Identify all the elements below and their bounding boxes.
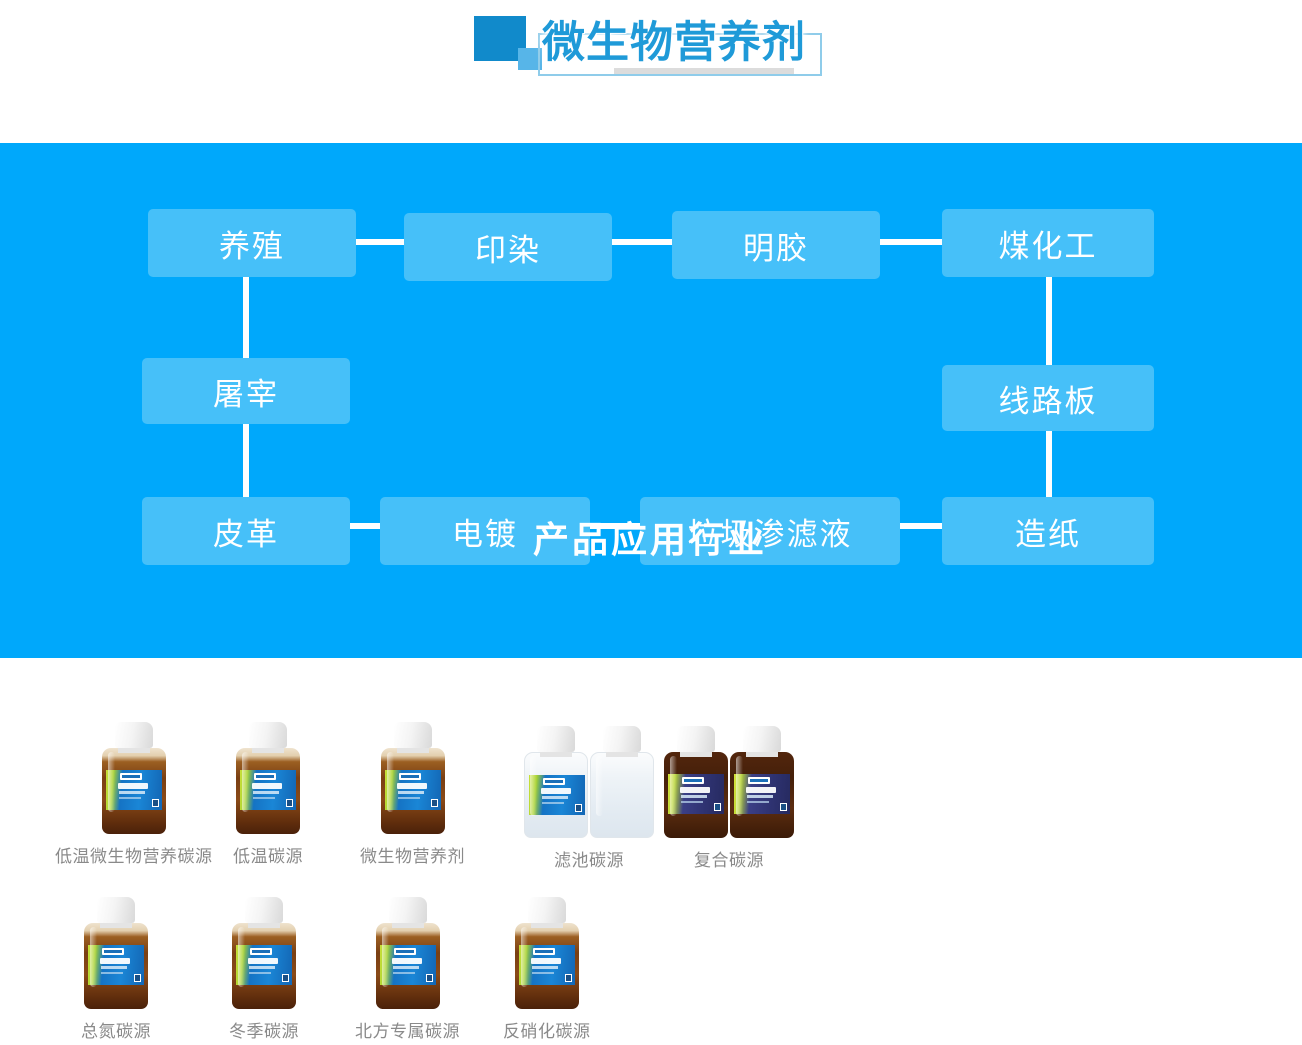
bottle-cap-icon [677, 726, 715, 752]
industry-node-label: 屠宰 [213, 369, 279, 414]
product-image [229, 893, 299, 1009]
product-item[interactable]: 复合碳源 [664, 722, 794, 871]
product-bottle [376, 897, 440, 1009]
diagram-connector [356, 239, 404, 245]
bottle-highlight [596, 756, 603, 816]
product-bottle [102, 722, 166, 834]
bottle-highlight [108, 752, 115, 812]
product-gallery: 低温微生物营养碳源低温碳源微生物营养剂滤池碳源复合碳源总氮碳源冬季碳源北方专属碳… [0, 658, 1302, 1045]
bottle-label-main [397, 783, 427, 789]
bottle-label-fine [542, 802, 564, 804]
bottle-label-fine [393, 972, 415, 974]
industry-node[interactable]: 皮革 [142, 497, 350, 565]
diagram-connector [612, 239, 672, 245]
bottle-label-brand [533, 948, 555, 955]
bottle-label-badge [286, 799, 293, 807]
bottle-label-main [531, 958, 561, 964]
bottle-label-fine [249, 972, 271, 974]
bottle-label-badge [565, 974, 572, 982]
product-bottle [730, 726, 794, 838]
industry-node-label: 养殖 [219, 221, 285, 266]
bottle-highlight [242, 752, 249, 812]
bottle-label-brand [120, 773, 142, 780]
bottle-cap-icon [245, 897, 283, 923]
industry-node-label: 明胶 [743, 223, 809, 268]
product-item[interactable]: 滤池碳源 [524, 722, 654, 871]
industry-node-label: 线路板 [999, 376, 1098, 421]
industry-node-label: 皮革 [213, 509, 279, 554]
bottle-label-sub [101, 966, 127, 969]
industry-node[interactable]: 明胶 [672, 211, 880, 279]
product-item[interactable]: 冬季碳源 [229, 893, 299, 1042]
bottle-cap-icon [603, 726, 641, 752]
bottle-label-sub [747, 795, 773, 798]
product-caption: 冬季碳源 [229, 1017, 299, 1042]
bottle-label-fine [398, 797, 420, 799]
bottle-label-badge [426, 974, 433, 982]
bottle-highlight [387, 752, 394, 812]
bottle-label-brand [748, 777, 770, 784]
industry-node-label: 印染 [475, 225, 541, 270]
header-title-group: 微生物营养剂 [474, 8, 834, 78]
product-bottle [524, 726, 588, 838]
bottle-label-fine [119, 797, 141, 799]
industry-node[interactable]: 印染 [404, 213, 612, 281]
product-bottle [236, 722, 300, 834]
product-image [55, 718, 213, 834]
bottle-label-fine [747, 801, 769, 803]
product-caption: 复合碳源 [664, 846, 794, 871]
page-header: 微生物营养剂 [0, 0, 1302, 143]
product-bottle [590, 726, 654, 838]
bottle-label-main [541, 788, 571, 794]
bottle-label-sub [398, 791, 424, 794]
product-caption: 低温碳源 [233, 842, 303, 867]
bottle-highlight [670, 756, 677, 816]
bottle-label-sub [542, 796, 568, 799]
bottle-label-main [118, 783, 148, 789]
bottle-label-main [680, 787, 710, 793]
bottle-highlight [382, 927, 389, 987]
bottle-highlight [530, 756, 537, 816]
bottle-highlight [90, 927, 97, 987]
bottle-label-main [252, 783, 282, 789]
bottle-label-brand [250, 948, 272, 955]
diagram-connector [350, 523, 380, 529]
product-image [355, 893, 460, 1009]
bottle-label-main [392, 958, 422, 964]
bottle-cap-icon [537, 726, 575, 752]
diagram-connector [900, 523, 942, 529]
industry-node[interactable]: 造纸 [942, 497, 1154, 565]
bottle-label-fine [532, 972, 554, 974]
product-item[interactable]: 低温微生物营养碳源 [55, 718, 213, 867]
bottle-label-badge [780, 803, 787, 811]
bottle-label-sub [393, 966, 419, 969]
bottle-label-badge [152, 799, 159, 807]
bottle-label-brand [102, 948, 124, 955]
bottle-cap-icon [389, 897, 427, 923]
product-caption: 反硝化碳源 [503, 1017, 591, 1042]
diagram-connector [880, 239, 942, 245]
bottle-cap-icon [115, 722, 153, 748]
bottle-label-sub [119, 791, 145, 794]
bottle-label-badge [431, 799, 438, 807]
product-item[interactable]: 总氮碳源 [81, 893, 151, 1042]
bottle-label-sub [681, 795, 707, 798]
bottle-label-fine [101, 972, 123, 974]
page-title: 微生物营养剂 [542, 8, 806, 70]
bottle-label-fine [253, 797, 275, 799]
bottle-cap-icon [743, 726, 781, 752]
product-image [360, 718, 465, 834]
industry-node-label: 煤化工 [999, 221, 1098, 266]
product-caption: 北方专属碳源 [355, 1017, 460, 1042]
bottle-cap-icon [97, 897, 135, 923]
bottle-label-main [100, 958, 130, 964]
bottle-label-brand [543, 778, 565, 785]
bottle-highlight [736, 756, 743, 816]
product-item[interactable]: 微生物营养剂 [360, 718, 465, 867]
bottle-label-main [746, 787, 776, 793]
application-industries-panel: 养殖印染明胶煤化工屠宰线路板皮革电镀垃圾渗滤液造纸 产品应用行业 [0, 143, 1302, 658]
bottle-label-brand [394, 948, 416, 955]
bottle-highlight [521, 927, 528, 987]
bottle-label-badge [575, 804, 582, 812]
bottle-label-sub [532, 966, 558, 969]
bottle-cap-icon [528, 897, 566, 923]
product-bottle [84, 897, 148, 1009]
bottle-label-badge [134, 974, 141, 982]
product-caption: 滤池碳源 [524, 846, 654, 871]
product-image [524, 722, 654, 838]
bottle-label-main [248, 958, 278, 964]
bottle-label-badge [282, 974, 289, 982]
bottle-highlight [238, 927, 245, 987]
product-item[interactable]: 低温碳源 [233, 718, 303, 867]
product-bottle [664, 726, 728, 838]
product-bottle [515, 897, 579, 1009]
product-caption: 低温微生物营养碳源 [55, 842, 213, 867]
industry-node[interactable]: 煤化工 [942, 209, 1154, 277]
product-image [81, 893, 151, 1009]
product-image [503, 893, 591, 1009]
product-caption: 总氮碳源 [81, 1017, 151, 1042]
bottle-cap-icon [249, 722, 287, 748]
bottle-label-sub [253, 791, 279, 794]
industry-node[interactable]: 养殖 [148, 209, 356, 277]
bottle-label-badge [714, 803, 721, 811]
bottle-label-fine [681, 801, 703, 803]
product-bottle [381, 722, 445, 834]
industry-node[interactable]: 屠宰 [142, 358, 350, 424]
diagram-center-title: 产品应用行业 [470, 511, 830, 563]
bottle-cap-icon [394, 722, 432, 748]
bottle-label-brand [254, 773, 276, 780]
bottle-label-sub [249, 966, 275, 969]
bottle-label-brand [682, 777, 704, 784]
product-image [233, 718, 303, 834]
product-item[interactable]: 北方专属碳源 [355, 893, 460, 1042]
product-caption: 微生物营养剂 [360, 842, 465, 867]
industry-node[interactable]: 线路板 [942, 365, 1154, 431]
product-bottle [232, 897, 296, 1009]
product-image [664, 722, 794, 838]
bottle-label [529, 775, 585, 815]
product-item[interactable]: 反硝化碳源 [503, 893, 591, 1042]
industry-node-label: 造纸 [1015, 509, 1081, 554]
bottle-label-brand [399, 773, 421, 780]
